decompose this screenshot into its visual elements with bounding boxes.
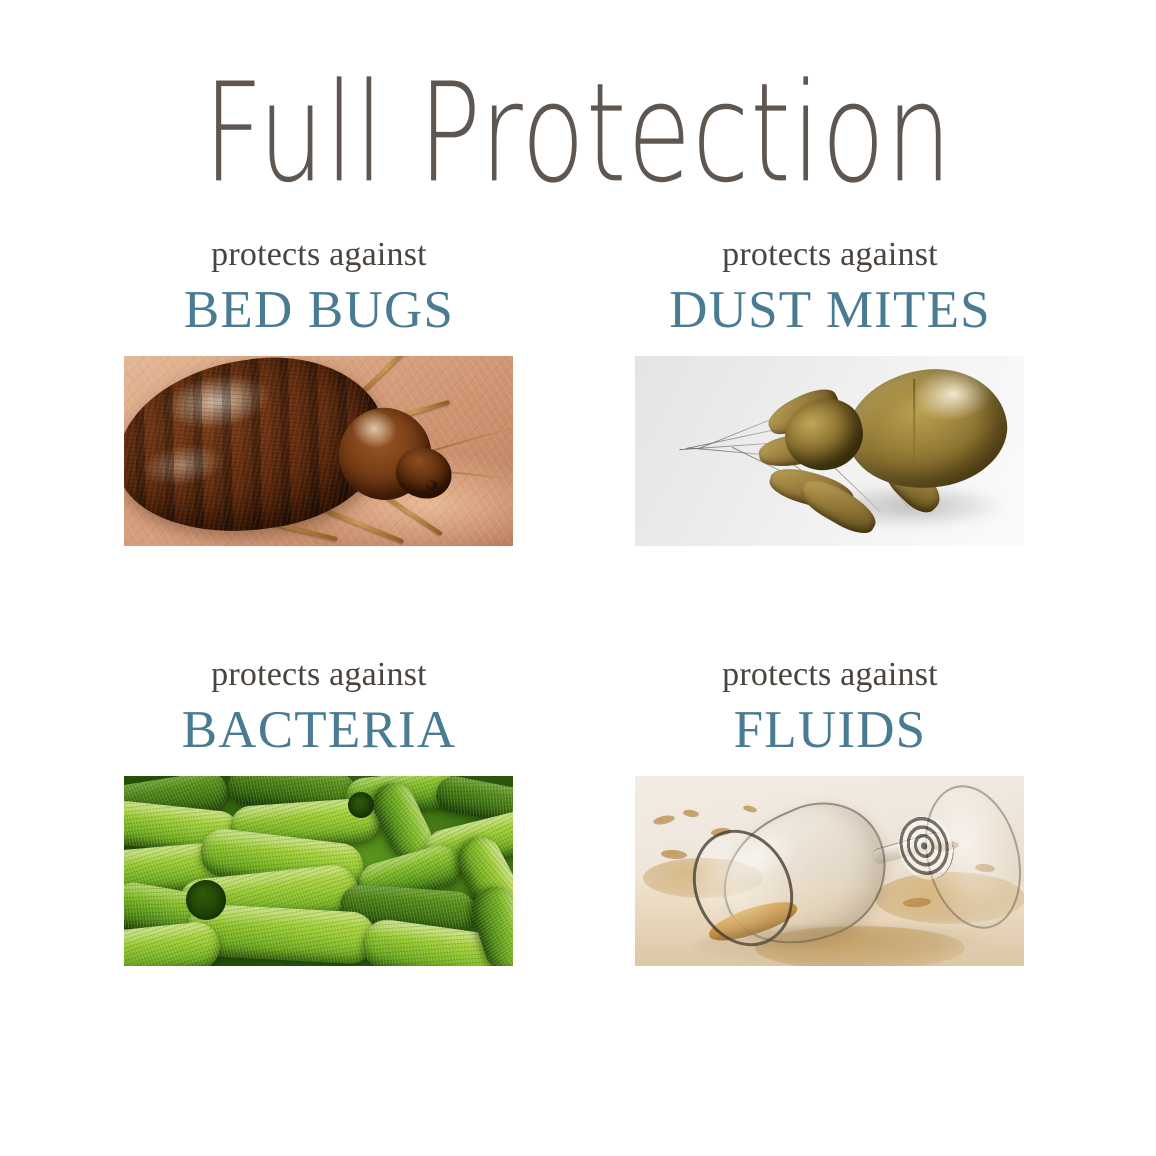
protection-card-bed-bugs: protects against BED BUGS (124, 238, 514, 546)
protection-card-fluids: protects against FLUIDS (635, 658, 1025, 966)
card-eyebrow-dust-mites: protects against (635, 238, 1025, 272)
bed-bug-eye (426, 480, 437, 490)
card-heading-bacteria: BACTERIA (124, 704, 514, 757)
dust-mite-photo (635, 356, 1024, 546)
protection-card-grid: protects against BED BUGS (0, 238, 1156, 1078)
infographic-canvas: Full Protection protects against BED BUG… (0, 0, 1156, 1156)
bacteria-photo (124, 776, 513, 966)
card-heading-dust-mites: DUST MITES (635, 284, 1025, 337)
protection-card-dust-mites: protects against DUST MITES (635, 238, 1025, 546)
bed-bug-photo (124, 356, 513, 546)
fluids-photo (635, 776, 1024, 966)
card-eyebrow-bacteria: protects against (124, 658, 514, 692)
card-eyebrow-fluids: protects against (635, 658, 1025, 692)
bacteria-rod-end (186, 880, 226, 920)
card-row-bottom: protects against BACTERIA (0, 658, 1156, 1078)
bacteria-rod-end (348, 792, 374, 818)
card-eyebrow-bed-bugs: protects against (124, 238, 514, 272)
glass-reflection (695, 926, 995, 966)
card-heading-fluids: FLUIDS (635, 704, 1025, 757)
protection-card-bacteria: protects against BACTERIA (124, 658, 514, 966)
card-row-top: protects against BED BUGS (0, 238, 1156, 658)
page-title: Full Protection (69, 62, 1086, 206)
card-heading-bed-bugs: BED BUGS (124, 284, 514, 337)
